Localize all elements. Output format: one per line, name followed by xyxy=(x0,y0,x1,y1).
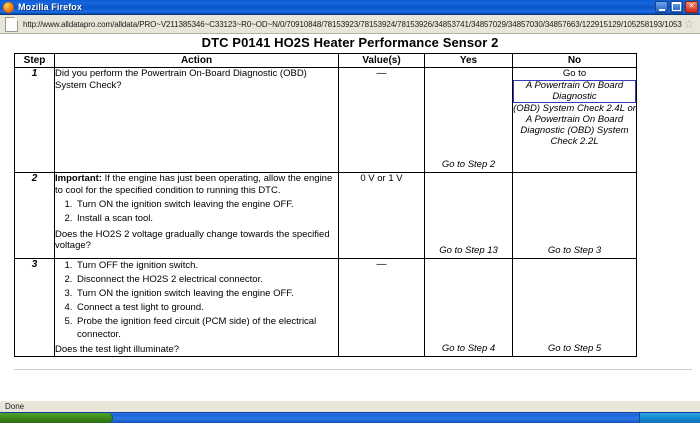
column-header-yes: Yes xyxy=(425,54,513,68)
action-cell: Turn OFF the ignition switch. Disconnect… xyxy=(55,259,339,357)
list-item: Probe the ignition feed circuit (PCM sid… xyxy=(75,316,338,341)
action-question: Does the test light illuminate? xyxy=(55,344,338,356)
action-question: Does the HO2S 2 voltage gradually change… xyxy=(55,229,338,252)
url-input[interactable]: http://www.alldatapro.com/alldata/PRO~V2… xyxy=(23,20,682,29)
list-item: Connect a test light to ground. xyxy=(75,302,338,315)
yes-branch-text: Go to Step 4 xyxy=(425,343,512,354)
column-header-step: Step xyxy=(15,54,55,68)
diagnostic-table: Step Action Value(s) Yes No 1 Did you pe… xyxy=(14,53,637,357)
url-bar[interactable]: http://www.alldatapro.com/alldata/PRO~V2… xyxy=(0,15,700,34)
action-text: Did you perform the Powertrain On-Board … xyxy=(55,68,338,91)
list-item: Turn ON the ignition switch leaving the … xyxy=(75,288,338,301)
restore-button[interactable] xyxy=(670,1,683,13)
taskbar-window-list[interactable] xyxy=(113,413,639,423)
status-bar: Done xyxy=(0,400,700,412)
yes-cell: Go to Step 2 xyxy=(425,68,513,173)
firefox-icon xyxy=(3,2,14,13)
list-item: Disconnect the HO2S 2 electrical connect… xyxy=(75,274,338,287)
minimize-button[interactable] xyxy=(655,1,668,13)
section-divider xyxy=(14,369,692,370)
window-title: Mozilla Firefox xyxy=(18,2,82,12)
table-row: 3 Turn OFF the ignition switch. Disconne… xyxy=(15,259,637,357)
yes-cell: Go to Step 13 xyxy=(425,173,513,259)
value-cell: — xyxy=(339,68,425,173)
column-header-value: Value(s) xyxy=(339,54,425,68)
yes-cell: Go to Step 4 xyxy=(425,259,513,357)
value-text: — xyxy=(377,259,387,270)
no-branch-text: Go to Step 5 xyxy=(513,343,636,354)
status-text: Done xyxy=(5,402,24,411)
window-controls: ✕ xyxy=(655,1,698,13)
no-branch-text: Go to Step 3 xyxy=(513,245,636,256)
value-cell: — xyxy=(339,259,425,357)
step-number: 3 xyxy=(15,259,55,357)
list-item: Turn OFF the ignition switch. xyxy=(75,260,338,273)
firefox-window: Mozilla Firefox ✕ http://www.alldatapro.… xyxy=(0,0,700,423)
action-cell: Important: If the engine has just been o… xyxy=(55,173,339,259)
action-important-note: Important: If the engine has just been o… xyxy=(55,173,338,196)
step-number: 2 xyxy=(15,173,55,259)
table-header-row: Step Action Value(s) Yes No xyxy=(15,54,637,68)
important-label: Important: xyxy=(55,173,102,184)
goto-label: Go to xyxy=(513,68,636,79)
yes-branch-text: Go to Step 2 xyxy=(425,159,512,170)
column-header-no: No xyxy=(513,54,637,68)
yes-branch-text: Go to Step 13 xyxy=(425,245,512,256)
link-obd-check-22l[interactable]: A Powertrain On Board Diagnostic (OBD) S… xyxy=(513,114,636,147)
value-text: 0 V or 1 V xyxy=(360,173,402,184)
no-cell: Go to Step 3 xyxy=(513,173,637,259)
no-cell: Go to Step 5 xyxy=(513,259,637,357)
action-step-list: Turn ON the ignition switch leaving the … xyxy=(55,199,338,226)
bookmark-star-icon[interactable]: ☆ xyxy=(682,17,696,31)
table-row: 1 Did you perform the Powertrain On-Boar… xyxy=(15,68,637,173)
window-titlebar: Mozilla Firefox ✕ xyxy=(0,0,700,15)
step-number: 1 xyxy=(15,68,55,173)
value-text: — xyxy=(377,68,387,79)
value-cell: 0 V or 1 V xyxy=(339,173,425,259)
windows-taskbar xyxy=(0,412,700,423)
system-tray[interactable] xyxy=(639,413,700,423)
list-item: Install a scan tool. xyxy=(75,213,338,226)
link-obd-check-24l-rest[interactable]: (OBD) System Check 2.4L or xyxy=(513,103,636,114)
page-icon xyxy=(5,17,18,32)
table-row: 2 Important: If the engine has just been… xyxy=(15,173,637,259)
action-step-list: Turn OFF the ignition switch. Disconnect… xyxy=(55,260,338,341)
start-button[interactable] xyxy=(0,413,113,423)
close-icon: ✕ xyxy=(689,3,695,10)
page-title: DTC P0141 HO2S Heater Performance Sensor… xyxy=(0,35,700,50)
close-button[interactable]: ✕ xyxy=(685,1,698,13)
column-header-action: Action xyxy=(55,54,339,68)
no-cell: Go to A Powertrain On Board Diagnostic (… xyxy=(513,68,637,173)
link-obd-check-24l[interactable]: A Powertrain On Board Diagnostic xyxy=(513,80,636,103)
action-cell: Did you perform the Powertrain On-Board … xyxy=(55,68,339,173)
list-item: Turn ON the ignition switch leaving the … xyxy=(75,199,338,212)
page-content: DTC P0141 HO2S Heater Performance Sensor… xyxy=(0,34,700,400)
